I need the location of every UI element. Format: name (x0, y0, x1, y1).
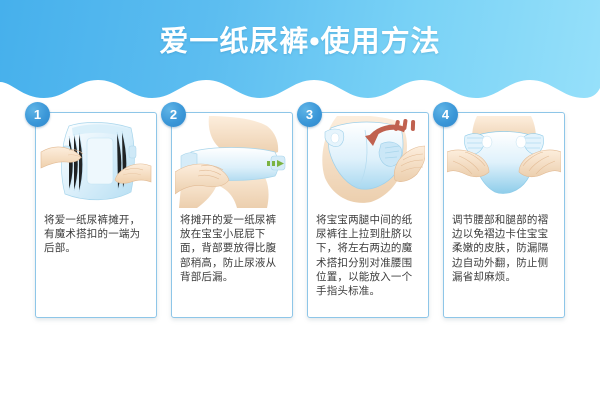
page-title: 爱一纸尿裤•使用方法 (0, 0, 600, 78)
step-card-3[interactable]: 3 (307, 112, 429, 318)
page-header: 爱一纸尿裤•使用方法 (0, 0, 600, 100)
step-text-3: 将宝宝两腿中间的纸尿裤往上拉到肚脐以下，将左右两边的魔术搭扣分别对准腰围位置，以… (316, 213, 422, 298)
step-badge-1: 1 (25, 102, 50, 127)
step-illustration-4 (447, 116, 561, 208)
step-text-4: 调节腰部和腿部的褶边以免褶边卡住宝宝柔嫩的皮肤，防漏隔边自动外翻，防止侧漏省却麻… (452, 213, 558, 284)
step-illustration-3 (311, 116, 425, 208)
step-badge-2: 2 (161, 102, 186, 127)
step-badge-3: 3 (297, 102, 322, 127)
step-card-4[interactable]: 4 (443, 112, 565, 318)
page-root: 爱一纸尿裤•使用方法 1 (0, 0, 600, 414)
step-illustration-1 (39, 116, 153, 208)
steps-container: 1 (0, 112, 600, 322)
step-card-2[interactable]: 2 (171, 112, 293, 318)
step-illustration-2 (175, 116, 289, 208)
step-text-1: 将爱一纸尿裤摊开，有魔术搭扣的一端为后部。 (44, 213, 150, 256)
step-badge-4: 4 (433, 102, 458, 127)
step-card-1[interactable]: 1 (35, 112, 157, 318)
step-text-2: 将摊开的爱一纸尿裤放在宝宝小屁屁下面，背部要放得比腹部稍高，防止尿液从背部后漏。 (180, 213, 286, 284)
